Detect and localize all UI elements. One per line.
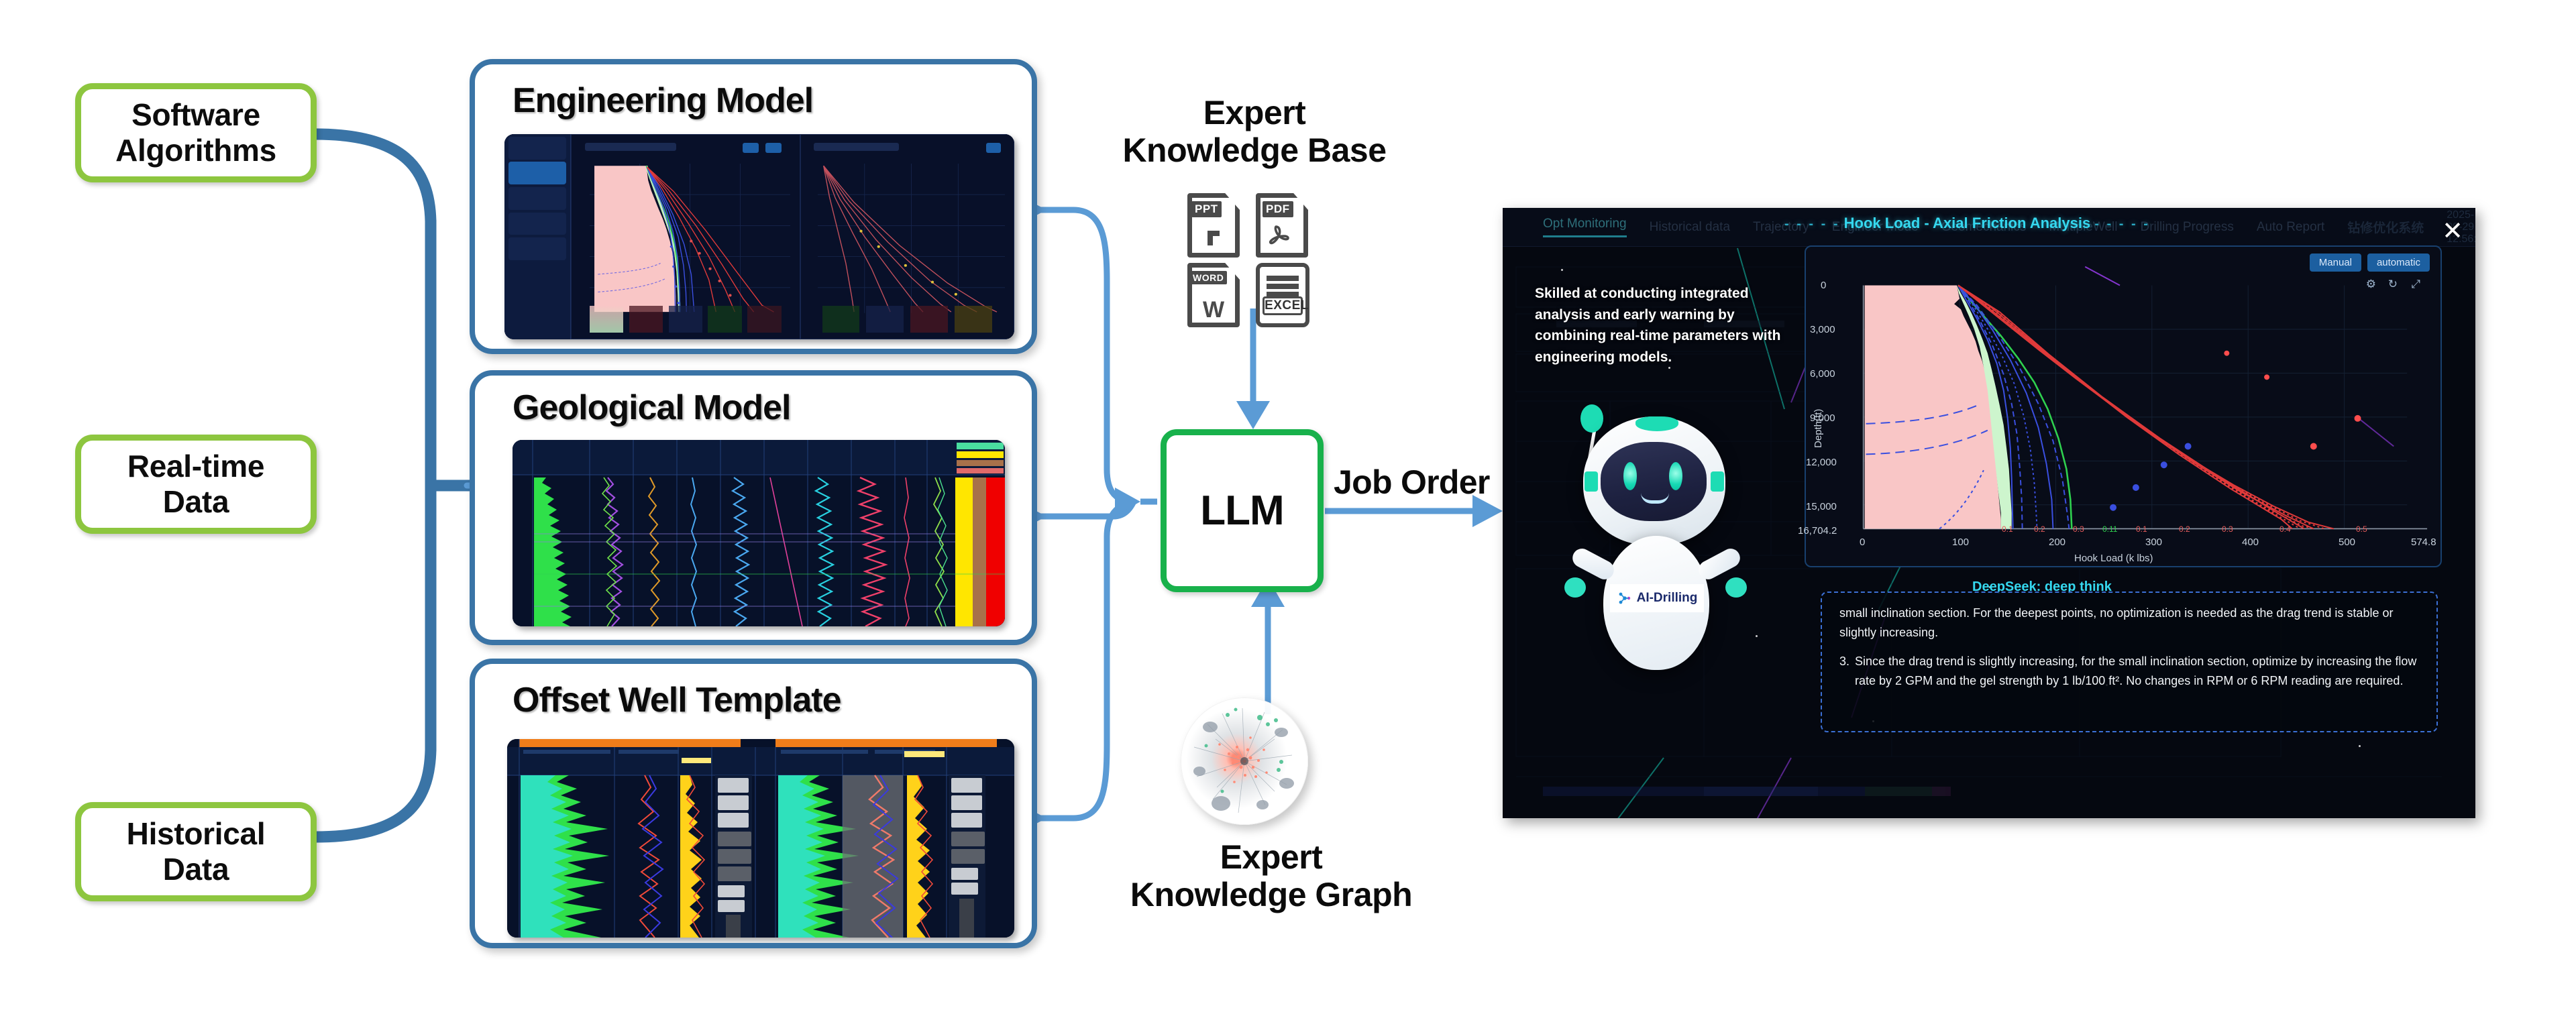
nav-tab-historical-data[interactable]: Historical data bbox=[1650, 220, 1730, 235]
xtick-100: 100 bbox=[1952, 537, 1969, 548]
pdf-file-icon: PDF bbox=[1256, 193, 1308, 258]
llm-label: LLM bbox=[1200, 487, 1283, 534]
panel-title-geological: Geological Model bbox=[513, 388, 791, 428]
panel-offset-well-template[interactable]: Offset Well Template bbox=[470, 659, 1037, 948]
deepseek-list-number: 3. bbox=[1839, 652, 1849, 691]
em-chart-right bbox=[800, 134, 1014, 339]
robot-ear-left bbox=[1585, 471, 1598, 492]
ytick-15000: 15,000 bbox=[1806, 501, 1837, 512]
panel-title-engineering: Engineering Model bbox=[513, 80, 813, 121]
ytick-12000: 12,000 bbox=[1806, 457, 1837, 468]
deepseek-paragraph-1: small inclination section. For the deepe… bbox=[1839, 604, 2420, 642]
xtick-0: 0 bbox=[1860, 537, 1865, 548]
robot-visor bbox=[1601, 442, 1707, 521]
deepseek-list-text: Since the drag trend is slightly increas… bbox=[1855, 652, 2420, 691]
friction-tick-2: 0.2 bbox=[2034, 524, 2045, 534]
em-chart-left bbox=[571, 134, 800, 339]
hook-load-plot bbox=[1806, 247, 2440, 566]
chart-title-text: Hook Load - Axial Friction Analysis bbox=[1844, 215, 2091, 231]
robot-hand-right bbox=[1725, 577, 1747, 598]
robot-eye-right bbox=[1669, 462, 1682, 490]
app-brand-cn: 钻修优化系统 bbox=[2347, 218, 2424, 236]
engineering-model-screenshot bbox=[504, 134, 1014, 339]
chart-title: - - - - - Hook Load - Axial Friction Ana… bbox=[1784, 215, 2150, 232]
source-box-software-algorithms[interactable]: Software Algorithms bbox=[75, 83, 317, 182]
nav-tab-auto-report[interactable]: Auto Report bbox=[2257, 220, 2324, 235]
expert-knowledge-graph-title: Expert Knowledge Graph bbox=[1100, 838, 1442, 913]
job-order-label: Job Order bbox=[1334, 463, 1490, 502]
xtick-200: 200 bbox=[2049, 537, 2065, 548]
source-label: Software Algorithms bbox=[115, 97, 276, 168]
source-box-historical-data[interactable]: Historical Data bbox=[75, 802, 317, 901]
geological-model-screenshot bbox=[513, 440, 1005, 626]
friction-tick-3: 0.3 bbox=[2073, 524, 2084, 534]
xtick-max: 574.8 bbox=[2411, 537, 2436, 548]
panel-geological-model[interactable]: Geological Model bbox=[470, 370, 1037, 645]
friction-tick-1: 0.1 bbox=[2002, 524, 2013, 534]
robot-hand-left bbox=[1564, 577, 1586, 598]
robot-eye-left bbox=[1623, 462, 1637, 490]
diagram-canvas: Software Algorithms Real-time Data Histo… bbox=[0, 0, 2576, 1014]
llm-node[interactable]: LLM bbox=[1161, 429, 1324, 592]
knowledge-base-icon-grid: PPT PDF WORD W EXCEL bbox=[1187, 193, 1319, 311]
expert-knowledge-graph-image bbox=[1181, 697, 1308, 825]
nav-tab-opt-monitoring[interactable]: Opt Monitoring bbox=[1543, 217, 1627, 237]
expert-knowledge-base-title: Expert Knowledge Base bbox=[1087, 94, 1422, 169]
mascot-caption: Skilled at conducting integrated analysi… bbox=[1535, 283, 1803, 368]
title-dash-left: - - - - - bbox=[1784, 217, 1840, 231]
ai-drilling-app-window[interactable]: Opt Monitoring Historical data Trajector… bbox=[1503, 208, 2475, 818]
friction-tick-6: 0.3 bbox=[2222, 524, 2233, 534]
word-file-icon: WORD W bbox=[1187, 263, 1240, 327]
robot-ear-right bbox=[1711, 471, 1724, 492]
friction-tick-7: 0.4 bbox=[2279, 524, 2291, 534]
ai-drilling-robot-mascot: AI-Drilling bbox=[1542, 392, 1763, 674]
close-icon[interactable]: ✕ bbox=[2442, 219, 2463, 244]
robot-badge: AI-Drilling bbox=[1610, 584, 1704, 612]
source-box-real-time-data[interactable]: Real-time Data bbox=[75, 435, 317, 534]
ai-drilling-logo-icon bbox=[1617, 590, 1633, 606]
friction-tick-8: 0.5 bbox=[2356, 524, 2367, 534]
y-axis-label: Depth(ft) bbox=[1813, 409, 1824, 448]
em-sidebar bbox=[504, 134, 571, 339]
friction-tick-4: 0.1 bbox=[2136, 524, 2147, 534]
friction-tick-5: 0.2 bbox=[2179, 524, 2190, 534]
ytick-6000: 6,000 bbox=[1810, 368, 1835, 380]
ytick-max: 16,704.2 bbox=[1798, 525, 1837, 537]
source-label: Historical Data bbox=[127, 816, 266, 887]
ytick-0: 0 bbox=[1821, 280, 1826, 291]
ytick-3000: 3,000 bbox=[1810, 324, 1835, 335]
deepseek-paragraph-2: 3. Since the drag trend is slightly incr… bbox=[1839, 652, 2420, 691]
offset-well-screenshot bbox=[507, 739, 1014, 938]
robot-antenna-ball bbox=[1580, 404, 1603, 433]
friction-tick-green: 0.11 bbox=[2102, 524, 2117, 534]
nav-tab-drilling-progress[interactable]: Drilling Progress bbox=[2140, 220, 2233, 235]
xtick-500: 500 bbox=[2339, 537, 2355, 548]
robot-badge-label: AI-Drilling bbox=[1637, 591, 1698, 606]
source-label: Real-time Data bbox=[127, 449, 264, 520]
ppt-file-icon: PPT bbox=[1187, 193, 1240, 258]
excel-file-icon: EXCEL bbox=[1256, 263, 1309, 327]
robot-crest bbox=[1635, 416, 1678, 431]
panel-engineering-model[interactable]: Engineering Model bbox=[470, 59, 1037, 354]
title-dash-right: - - - - - bbox=[2094, 217, 2150, 231]
hook-load-chart-card[interactable]: Manual automatic ⚙ ↻ ⤢ bbox=[1805, 245, 2442, 567]
deepseek-body: small inclination section. For the deepe… bbox=[1839, 604, 2420, 691]
xtick-300: 300 bbox=[2145, 537, 2162, 548]
xtick-400: 400 bbox=[2242, 537, 2259, 548]
x-axis-label: Hook Load (k lbs) bbox=[2074, 553, 2153, 564]
panel-title-offset: Offset Well Template bbox=[513, 680, 841, 720]
